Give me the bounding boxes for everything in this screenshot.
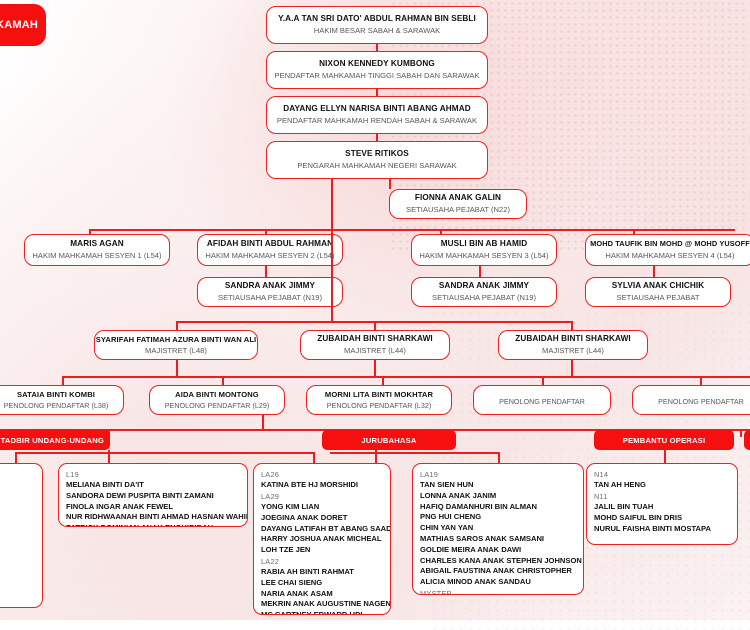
roster-name: YONG KIM LIAN — [261, 502, 383, 513]
roster-name: MC CARTNEY EDWARD UDI — [261, 610, 383, 615]
node-office-secretary[interactable]: FIONNA ANAK GALIN SETIAUSAHA PEJABAT (N2… — [389, 189, 527, 219]
connector-ar-feed-left — [176, 360, 178, 376]
node-judge3-secretary[interactable]: SANDRA ANAK JIMMY SETIAUSAHA PEJABAT (N1… — [411, 277, 557, 307]
roster-name: LONNA ANAK JANIM — [420, 491, 576, 502]
connector-ar-feed-right — [571, 360, 573, 376]
node-assistant-registrar-1[interactable]: SATAIA BINTI KOMBI PENOLONG PENDAFTAR (L… — [0, 385, 124, 415]
roster-name: MELIANA BINTI DA'IT — [66, 480, 240, 491]
roster-name: RABIA AH BINTI RAHMAT — [261, 567, 383, 578]
connector-magistrate-drop-3 — [571, 321, 573, 330]
node-name: MARIS AGAN — [70, 239, 123, 249]
node-sessions-judge-2[interactable]: AFIDAH BINTI ABDUL RAHMAN HAKIM MAHKAMAH… — [197, 234, 343, 266]
connector-dept-feed — [262, 415, 264, 429]
node-title: PENOLONG PENDAFTAR — [658, 397, 744, 406]
connector-roster-bus-legal — [15, 452, 315, 454]
connector-director-to-secretary — [389, 179, 391, 189]
roster-name: NURUL FAISHA BINTI MOSTAPA — [594, 524, 730, 535]
roster-grade: N11 — [594, 491, 730, 502]
roster-name: CHIN YAN YAN — [420, 523, 576, 534]
roster-name: TAN AH HENG — [594, 480, 730, 491]
org-chart-canvas: MAHKAMAH Y.A.A TAN SRI DATO' ABDUL RAHMA… — [0, 0, 750, 620]
node-title: SETIAUSAHA PEJABAT (N19) — [432, 293, 536, 302]
roster-name: HARRY JOSHUA ANAK MICHEAL — [261, 534, 383, 545]
node-title: PENOLONG PENDAFTAR — [499, 397, 585, 406]
connector-roster-drop-legal-left — [15, 452, 17, 463]
dept-chip-operations[interactable]: PEMBANTU OPERASI — [594, 430, 734, 450]
node-assistant-registrar-4[interactable]: PENOLONG PENDAFTAR — [473, 385, 611, 415]
roster-name: TAN SIEN HUN — [420, 480, 576, 491]
roster-grade: LA19 — [420, 469, 576, 480]
roster-name: PATRICK DOMINIAN ANAK ENGKIRIBAU — [66, 523, 240, 527]
connector-roster-drop-operations — [664, 450, 666, 463]
connector-magistrate-drop-1 — [176, 321, 178, 330]
node-name: ZUBAIDAH BINTI SHARKAWI — [317, 334, 433, 344]
node-state-court-director[interactable]: STEVE RITIKOS PENGARAH MAHKAMAH NEGERI S… — [266, 141, 488, 179]
node-title: HAKIM BESAR SABAH & SARAWAK — [314, 26, 440, 35]
node-title: PENOLONG PENDAFTAR (L32) — [327, 401, 432, 410]
connector-spine-2 — [376, 89, 378, 96]
connector-ar-drop-2 — [222, 376, 224, 385]
roster-name: FINOLA INGAR ANAK FEWEL — [66, 502, 240, 513]
roster-name: DAYANG LATIFAH BT ABANG SAADI — [261, 524, 383, 535]
roster-interpreters-b[interactable]: LA19 TAN SIEN HUN LONNA ANAK JANIM HAFIQ… — [412, 463, 584, 595]
connector-director-down — [331, 179, 333, 229]
connector-ar-drop-1 — [62, 376, 64, 385]
node-sessions-judge-4[interactable]: MOHD TAUFIK BIN MOHD @ MOHD YUSOFF HAKIM… — [585, 234, 750, 266]
connector-magistrate-feed — [331, 229, 333, 321]
node-title: PENDAFTAR MAHKAMAH TINGGI SABAH DAN SARA… — [274, 71, 479, 80]
roster-interpreters-a[interactable]: LA26 KATINA BTE HJ MORSHIDI LA29 YONG KI… — [253, 463, 391, 615]
node-magistrate-1[interactable]: SYARIFAH FATIMAH AZURA BINTI WAN ALI MAJ… — [94, 330, 258, 360]
connector-ar-drop-5 — [700, 376, 702, 385]
roster-name: CHARLES KANA ANAK STEPHEN JOHNSON — [420, 556, 576, 567]
node-name: FIONNA ANAK GALIN — [415, 193, 501, 203]
node-title: PENDAFTAR MAHKAMAH RENDAH SABAH & SARAWA… — [277, 116, 477, 125]
node-title: MAJISTRET (L44) — [542, 346, 604, 355]
node-title: SETIAUSAHA PEJABAT (N22) — [406, 205, 510, 214]
connector-ar-feed-mid — [374, 360, 376, 376]
roster-name: NARIA ANAK ASAM — [261, 589, 383, 600]
connector-spine-1 — [376, 44, 378, 51]
connector-ar-bus — [62, 376, 750, 378]
node-assistant-registrar-2[interactable]: AIDA BINTI MONTONG PENOLONG PENDAFTAR (L… — [149, 385, 285, 415]
roster-name: KATINA BTE HJ MORSHIDI — [261, 480, 383, 491]
node-name: SANDRA ANAK JIMMY — [225, 281, 315, 291]
node-title: MAJISTRET (L44) — [344, 346, 406, 355]
node-sessions-judge-3[interactable]: MUSLI BIN AB HAMID HAKIM MAHKAMAH SESYEN… — [411, 234, 557, 266]
node-name: AIDA BINTI MONTONG — [175, 390, 259, 399]
roster-name: MATHIAS SAROS ANAK SAMSANI — [420, 534, 576, 545]
roster-name: HAFIQ DAMANHURI BIN ALMAN — [420, 502, 576, 513]
node-name: DAYANG ELLYN NARISA BINTI ABANG AHMAD — [283, 104, 470, 114]
node-name: MOHD TAUFIK BIN MOHD @ MOHD YUSOFF — [590, 240, 750, 249]
node-title: HAKIM MAHKAMAH SESYEN 4 (L54) — [605, 251, 734, 260]
node-registrar-lower-court[interactable]: DAYANG ELLYN NARISA BINTI ABANG AHMAD PE… — [266, 96, 488, 134]
roster-name: ABIGAIL FAUSTINA ANAK CHRISTOPHER — [420, 566, 576, 577]
node-magistrate-3[interactable]: ZUBAIDAH BINTI SHARKAWI MAJISTRET (L44) — [498, 330, 648, 360]
roster-grade: MYSTEP — [420, 588, 576, 595]
node-name: MUSLI BIN AB HAMID — [441, 239, 528, 249]
roster-name: SANDORA DEWI PUSPITA BINTI ZAMANI — [66, 491, 240, 502]
node-sessions-judge-1[interactable]: MARIS AGAN HAKIM MAHKAMAH SESYEN 1 (L54) — [24, 234, 170, 266]
node-name: Y.A.A TAN SRI DATO' ABDUL RAHMAN BIN SEB… — [278, 14, 476, 24]
roster-operations[interactable]: N14 TAN AH HENG N11 JALIL BIN TUAH MOHD … — [586, 463, 738, 545]
roster-name: JALIL BIN TUAH — [594, 502, 730, 513]
dept-chip-clipped-right[interactable] — [744, 430, 750, 450]
node-title: HAKIM MAHKAMAH SESYEN 3 (L54) — [419, 251, 548, 260]
node-title: PENGARAH MAHKAMAH NEGERI SARAWAK — [297, 161, 456, 170]
node-chief-judge[interactable]: Y.A.A TAN SRI DATO' ABDUL RAHMAN BIN SEB… — [266, 6, 488, 44]
roster-name: JOEGINA ANAK DORET — [261, 513, 383, 524]
node-name: AFIDAH BINTI ABDUL RAHMAN — [207, 239, 333, 249]
roster-name: LOH TZE JEN — [261, 545, 383, 556]
roster-name: LEE CHAI SIENG — [261, 578, 383, 589]
connector-sessions-bus — [89, 229, 735, 231]
dept-chip-legal-admin[interactable]: PEMBANTU TADBIR UNDANG-UNDANG — [0, 430, 110, 450]
roster-clipped-left[interactable] — [0, 463, 43, 608]
dept-chip-interpreter[interactable]: JURUBAHASA — [322, 430, 456, 450]
connector-roster-drop-legal-right — [313, 452, 315, 463]
node-name: SYLVIA ANAK CHICHIK — [612, 281, 705, 291]
node-title: SETIAUSAHA PEJABAT — [617, 293, 700, 302]
roster-grade: LA26 — [261, 469, 383, 480]
node-name: MORNI LITA BINTI MOKHTAR — [325, 390, 433, 399]
connector-dept-drop-4 — [740, 429, 742, 437]
roster-name: PNG HUI CHENG — [420, 512, 576, 523]
connector-spine-3 — [376, 134, 378, 141]
node-judge2-secretary[interactable]: SANDRA ANAK JIMMY SETIAUSAHA PEJABAT (N1… — [197, 277, 343, 307]
roster-name: ALICIA MINOD ANAK SANDAU — [420, 577, 576, 588]
roster-grade: L19 — [66, 469, 240, 480]
connector-ar-drop-4 — [542, 376, 544, 385]
connector-roster-bus-interpreter — [330, 452, 500, 454]
node-name: NIXON KENNEDY KUMBONG — [319, 59, 435, 69]
connector-roster-drop-interpreter-b — [498, 452, 500, 463]
node-name: SATAIA BINTI KOMBI — [17, 390, 95, 399]
node-title: PENOLONG PENDAFTAR (L29) — [165, 401, 270, 410]
node-name: ZUBAIDAH BINTI SHARKAWI — [515, 334, 631, 344]
roster-grade: LA22 — [261, 556, 383, 567]
roster-grade: LA29 — [261, 491, 383, 502]
node-registrar-high-court[interactable]: NIXON KENNEDY KUMBONG PENDAFTAR MAHKAMAH… — [266, 51, 488, 89]
node-title: HAKIM MAHKAMAH SESYEN 1 (L54) — [32, 251, 161, 260]
roster-legal-admin[interactable]: L19 MELIANA BINTI DA'IT SANDORA DEWI PUS… — [58, 463, 248, 527]
node-title: MAJISTRET (L48) — [145, 346, 207, 355]
node-title: PENOLONG PENDAFTAR (L38) — [4, 401, 109, 410]
roster-name: NUR RIDHWAANAH BINTI AHMAD HASNAN WAHIDI — [66, 512, 240, 523]
connector-magistrate-drop-2 — [374, 321, 376, 330]
node-title: HAKIM MAHKAMAH SESYEN 2 (L54) — [205, 251, 334, 260]
node-magistrate-2[interactable]: ZUBAIDAH BINTI SHARKAWI MAJISTRET (L44) — [300, 330, 450, 360]
roster-name: GOLDIE MEIRA ANAK DAWI — [420, 545, 576, 556]
node-judge4-secretary[interactable]: SYLVIA ANAK CHICHIK SETIAUSAHA PEJABAT — [585, 277, 731, 307]
node-name: SANDRA ANAK JIMMY — [439, 281, 529, 291]
roster-name: MOHD SAIFUL BIN DRIS — [594, 513, 730, 524]
node-assistant-registrar-3[interactable]: MORNI LITA BINTI MOKHTAR PENOLONG PENDAF… — [306, 385, 452, 415]
roster-name: MEKRIN ANAK AUGUSTINE NAGENG — [261, 599, 383, 610]
connector-ar-drop-3 — [382, 376, 384, 385]
clipped-title-chip-top-left[interactable]: MAHKAMAH — [0, 4, 46, 46]
node-name: SYARIFAH FATIMAH AZURA BINTI WAN ALI — [96, 335, 257, 344]
roster-grade: N14 — [594, 469, 730, 480]
node-name: STEVE RITIKOS — [345, 149, 409, 159]
node-assistant-registrar-5[interactable]: PENOLONG PENDAFTAR — [632, 385, 750, 415]
node-title: SETIAUSAHA PEJABAT (N19) — [218, 293, 322, 302]
